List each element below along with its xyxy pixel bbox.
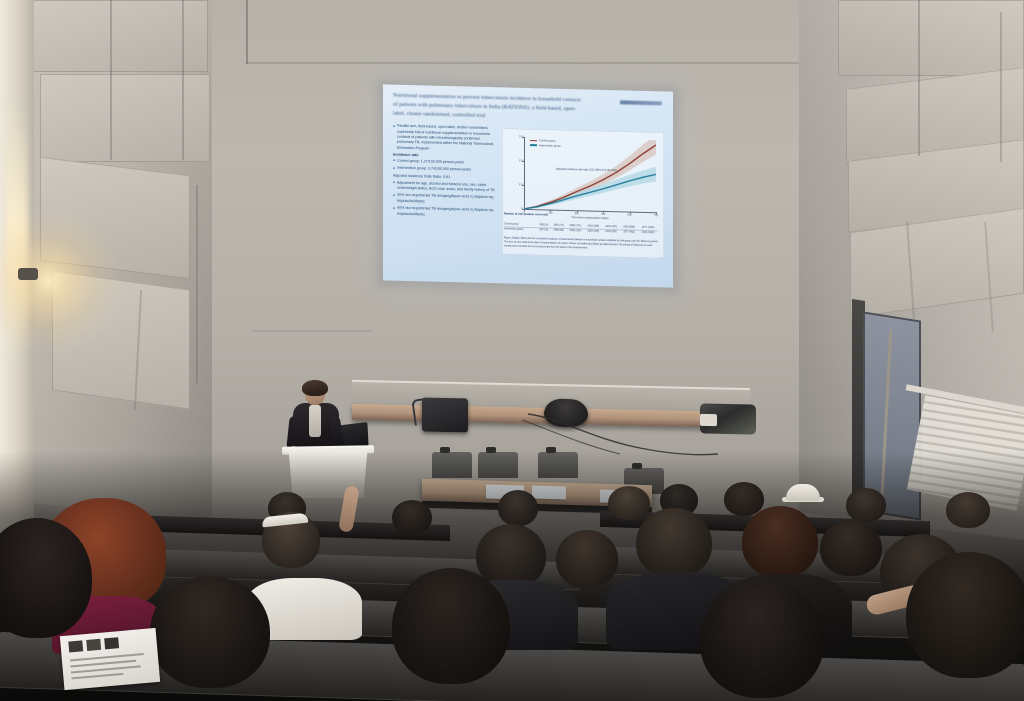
chart-y-tick-label: 1.0 <box>519 184 522 187</box>
light-streak <box>6 100 28 360</box>
paper-sheet[interactable] <box>532 486 566 500</box>
audience-head <box>820 520 882 576</box>
chart-x-tick-label: 450 <box>601 213 605 216</box>
wall-seam <box>182 0 184 160</box>
chart-plot-area: 01.02.03.0 0150300450600750 Control grou… <box>524 137 656 212</box>
risk-cell: 1977 (492) <box>620 229 638 234</box>
slide-title: Nutritional supplementation to prevent t… <box>393 92 585 123</box>
chart-y-tick-label: 0 <box>521 208 522 211</box>
slide-figure-column: 01.02.03.0 0150300450600750 Control grou… <box>502 127 664 226</box>
chart-x-tick-label: 750 <box>654 214 658 217</box>
program-thumbnail <box>104 637 119 649</box>
chart-y-axis <box>524 137 525 209</box>
risk-cell: 2381 (142) <box>566 228 584 233</box>
slide-bullet-prevented-40: 40% νέα περιστατικά ΤΒ αποφεύχθηκαν κατά… <box>393 206 496 219</box>
wall-seam <box>110 0 112 160</box>
slide-bullet-adjustment: Adjustment for age, alcohol and tobacco … <box>393 180 496 193</box>
audience-head <box>724 482 764 516</box>
legend-swatch-control <box>530 140 537 141</box>
chart-x-tick-label: 600 <box>628 213 632 216</box>
risk-table: Control group2800 (0)2681 (74)2556 (171)… <box>504 222 658 236</box>
audience-head <box>392 568 510 684</box>
wall-seam <box>918 0 920 156</box>
legend-label-control: Control group <box>539 140 555 143</box>
backpack[interactable] <box>544 399 588 428</box>
slide-bullet-intervention-rate: Intervention group: 0,74/100,000 person-… <box>393 166 496 174</box>
audience-head <box>476 524 546 588</box>
audience-head <box>946 492 990 528</box>
stage-chair[interactable] <box>432 452 472 478</box>
wall-seam <box>246 62 822 64</box>
stage-chair[interactable] <box>478 452 518 478</box>
lecture-hall-photo: Nutritional supplementation to prevent t… <box>0 0 1024 701</box>
kaplan-meier-chart: 01.02.03.0 0150300450600750 Control grou… <box>502 129 664 259</box>
projection-screen[interactable]: Nutritional supplementation to prevent t… <box>383 84 673 287</box>
chart-y-tick-label: 2.0 <box>519 160 522 163</box>
risk-row-label: Intervention group <box>504 227 537 233</box>
wall-panel <box>838 0 1024 76</box>
slide-bullet-design: Parallel-arm, field-based, open-label, c… <box>393 124 496 153</box>
wall-seam <box>246 0 248 64</box>
chart-x-axis-title: Time since randomisation (days) <box>571 216 608 220</box>
legend-label-intervention: Intervention group <box>539 144 561 148</box>
wall-panel <box>40 157 190 279</box>
audience-head <box>906 552 1024 678</box>
wall-panel <box>28 0 208 72</box>
wall-seam <box>252 330 372 332</box>
legend-swatch-intervention <box>530 145 537 146</box>
audience-head <box>636 508 712 578</box>
program-text-line <box>71 665 141 673</box>
audience-head <box>150 576 270 688</box>
legend-item-control: Control group <box>530 139 561 143</box>
risk-table-title: Number at risk (number censored) <box>504 213 548 218</box>
chart-legend: Control group Intervention group <box>530 139 561 149</box>
audience-head <box>498 490 538 526</box>
white-cap <box>786 484 820 501</box>
program-thumbnail <box>86 639 101 651</box>
presenter-hair <box>302 380 328 396</box>
wall-sconce-light <box>18 268 38 280</box>
chart-y-tick-label: 3.0 <box>519 136 522 139</box>
risk-cell: 1419 (1022) <box>638 230 658 235</box>
legend-item-intervention: Intervention group <box>530 144 561 148</box>
risk-cell: 2486 (58) <box>551 228 567 233</box>
audience-head <box>556 530 618 588</box>
stage-chair[interactable] <box>538 452 578 478</box>
slide-content: Nutritional supplementation to prevent t… <box>383 84 673 287</box>
audience-head <box>392 500 432 534</box>
risk-cell: 2126 (361) <box>602 229 620 234</box>
journal-brand-logo <box>620 100 662 105</box>
wall-panel <box>52 270 190 409</box>
chart-x-tick-label: 300 <box>575 212 579 215</box>
presenter-shirt <box>309 405 321 437</box>
white-object-on-ledge <box>700 414 717 426</box>
program-thumbnail <box>68 640 83 652</box>
figure-caption: Figure: Kaplan–Meier plot for cumulative… <box>504 237 660 252</box>
printed-program[interactable] <box>60 628 160 690</box>
audience-head <box>608 486 650 520</box>
audience-head <box>700 580 824 698</box>
slide-bullet-prevented-30: 30% νέα περιστατικά ΤΒ αποφεύχθηκαν κατά… <box>393 193 496 206</box>
audience-head <box>742 506 818 578</box>
risk-cell: 2262 (246) <box>584 229 602 234</box>
wall-panel <box>40 74 210 162</box>
wall-seam <box>1000 12 1002 162</box>
slide-bullet-column: Parallel-arm, field-based, open-label, c… <box>393 124 496 221</box>
risk-cell: 2574 (0) <box>537 227 551 232</box>
chart-x-tick-label: 150 <box>548 211 552 214</box>
program-text-line <box>71 673 123 679</box>
wall-seam <box>196 185 198 385</box>
audience-head <box>846 488 886 522</box>
laptop-bag[interactable] <box>422 398 468 433</box>
slide-bullet-control-rate: Control group: 1,27/100,000 person-years <box>393 158 496 166</box>
